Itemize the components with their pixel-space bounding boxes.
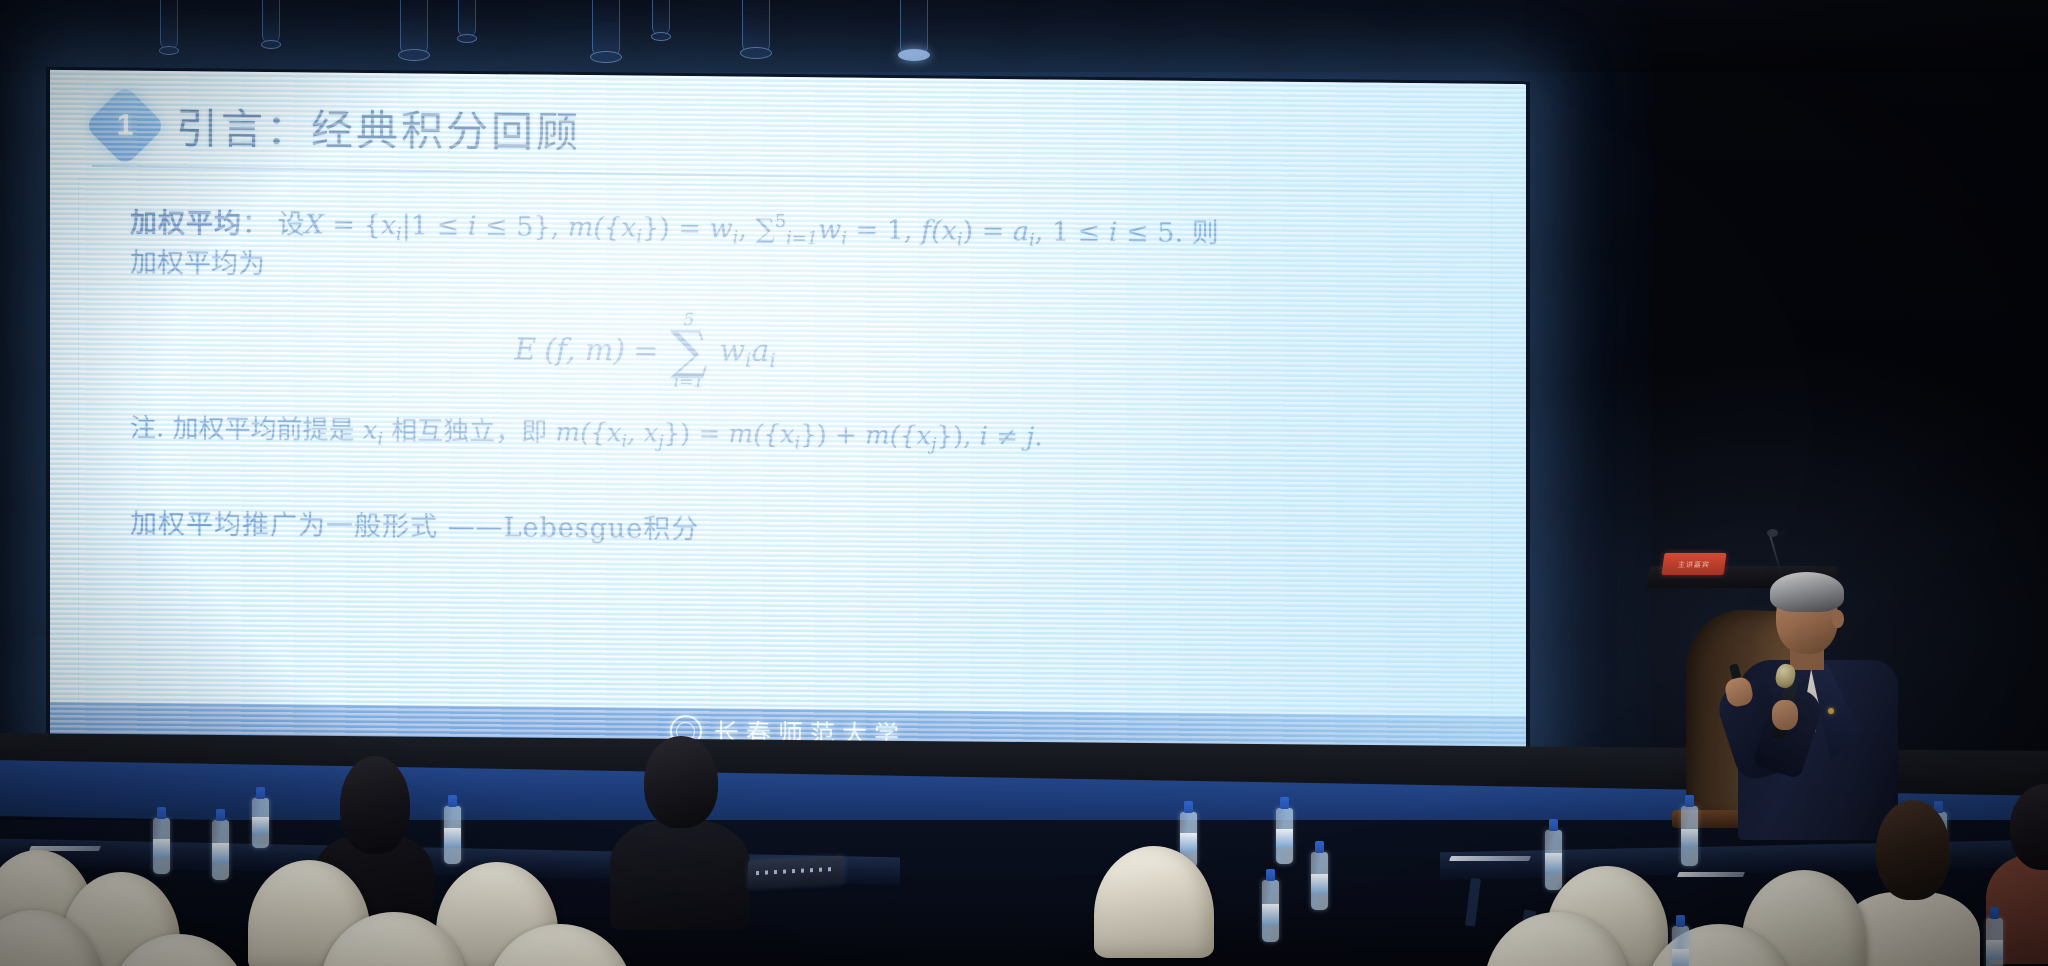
water-bottle <box>252 798 269 848</box>
func-close: ) = <box>963 216 1013 247</box>
eq-sign: = <box>324 210 364 241</box>
lapel-pin-icon <box>1828 708 1834 714</box>
value-a: a <box>1013 216 1029 247</box>
stage-light-icon <box>160 0 178 50</box>
bottle-label <box>1545 853 1562 873</box>
bottle-label <box>212 843 229 863</box>
generalization-text: 加权平均推广为一般形式 —— <box>130 508 504 543</box>
inline-sum-lower: i=1 <box>786 228 818 249</box>
water-bottle <box>1311 852 1328 910</box>
range-low: 1 ≤ <box>411 210 468 242</box>
note-m1-arg: ({x <box>580 418 621 448</box>
handout-paper <box>1677 872 1745 877</box>
audience-member <box>610 736 750 912</box>
water-bottle <box>1262 880 1279 942</box>
bottle-label <box>153 839 170 858</box>
note-m3-close: }), <box>936 421 979 451</box>
slide-title-row: 1 引言：经典积分回顾 <box>96 94 581 160</box>
note-m1: m <box>556 418 581 448</box>
audience-member-head <box>1876 800 1950 900</box>
comma-1: , <box>738 214 755 245</box>
bottle-label <box>1311 874 1328 894</box>
stage-light-icon <box>458 0 476 38</box>
set-close: }, <box>533 212 567 243</box>
summation-operator: 5 ∑ i=1 <box>670 312 707 391</box>
speaker-figure <box>1704 578 1934 838</box>
equation-lhs-args: (f, m) <box>544 333 625 369</box>
trail-index: i <box>1109 217 1118 248</box>
note-cond-i: i <box>980 422 988 452</box>
elem-x: x <box>381 210 396 241</box>
set-bar: | <box>402 210 411 241</box>
handout-paper <box>1449 856 1531 861</box>
presentation-slide: 1 引言：经典积分回顾 加权平均： 设X = {xi|1 ≤ i ≤ 5}, m… <box>50 70 1526 762</box>
summand-a: a <box>751 333 769 368</box>
label-colon: ： <box>242 209 269 240</box>
note-prefix: 注. 加权平均前提是 <box>130 414 363 446</box>
note-m2-close: }) + <box>800 420 865 451</box>
comma-2: , 1 ≤ <box>1035 216 1109 248</box>
note-m2: m <box>729 419 754 449</box>
weight-w: w <box>710 213 733 244</box>
section-number-label: 1 <box>117 110 134 140</box>
stage-light-icon <box>592 0 620 58</box>
water-bottle <box>1672 926 1689 966</box>
water-bottle <box>1545 830 1562 890</box>
equation-equals: = <box>633 334 658 369</box>
water-bottle <box>1681 806 1698 866</box>
bottle-label <box>1986 940 2003 960</box>
trail-high: ≤ 5. <box>1118 217 1192 249</box>
generalization-suffix: 积分 <box>643 513 699 545</box>
sum-equals-one: = 1, <box>847 215 921 247</box>
stage-light-icon <box>262 0 280 44</box>
bottle-label <box>444 828 461 848</box>
water-bottle <box>444 806 461 864</box>
note-cond-end: . <box>1034 422 1042 452</box>
slide-body: 加权平均： 设X = {xi|1 ≤ i ≤ 5}, m({xi}) = wi,… <box>130 203 1430 553</box>
measure-arg: ({x <box>593 212 636 243</box>
speaker-hair <box>1770 572 1844 612</box>
note-m3-arg: ({x <box>890 421 931 451</box>
stage-light-icon <box>400 0 428 56</box>
projection-screen: 1 引言：经典积分回顾 加权平均： 设X = {xi|1 ≤ i ≤ 5}, m… <box>46 67 1530 765</box>
sum-term-w: w <box>818 214 841 245</box>
bottle-label <box>252 817 269 834</box>
equation-lhs-E: E <box>514 333 536 368</box>
range-high: ≤ 5 <box>476 211 533 243</box>
summation-lower-limit: i=1 <box>674 374 705 391</box>
water-bottle <box>1986 918 2003 966</box>
then-word: 则 <box>1192 218 1219 249</box>
av-control-console <box>748 855 844 888</box>
set-open: { <box>364 210 381 241</box>
audience-member-head <box>340 756 410 854</box>
var-X: X <box>305 209 324 240</box>
note-cond-neq: ≠ <box>988 422 1026 452</box>
summand-w: w <box>719 333 745 368</box>
summand-a-subscript: i <box>769 349 775 372</box>
weighted-average-label: 加权平均 <box>130 208 242 240</box>
podium-microphone-head-icon <box>1767 529 1778 537</box>
water-bottle <box>1276 808 1293 864</box>
note-mid: 相互独立，即 <box>383 416 556 448</box>
inline-sum-symbol: ∑ <box>756 214 775 245</box>
section-number-badge: 1 <box>84 84 166 166</box>
stage-light-icon <box>742 0 770 54</box>
slide-title: 引言：经典积分回顾 <box>176 95 581 160</box>
auditorium-photo: 1 引言：经典积分回顾 加权平均： 设X = {xi|1 ≤ i ≤ 5}, m… <box>0 0 2048 966</box>
bottle-label <box>1672 949 1689 966</box>
independence-note-line: 注. 加权平均前提是 xi 相互独立，即 m({xi, xj}) = m({xi… <box>130 408 1430 460</box>
note-m1-comma: , x <box>627 419 658 449</box>
note-m1-close: }) = <box>664 419 729 450</box>
name-placard-label: 主讲嘉宾 <box>1662 560 1725 570</box>
measure-m: m <box>568 212 594 243</box>
stage-light-icon <box>900 0 928 56</box>
stage-light-icon <box>652 0 670 36</box>
water-bottle <box>153 818 170 874</box>
water-bottle <box>212 820 229 880</box>
audience-member-body <box>610 820 750 930</box>
note-var-x: x <box>363 416 378 446</box>
name-placard: 主讲嘉宾 <box>1661 553 1726 575</box>
summand: wiai <box>719 333 775 372</box>
bottle-label <box>1681 829 1698 849</box>
func-f: f <box>921 215 931 246</box>
speaker-ear <box>1832 610 1844 628</box>
lebesgue-keyword: Lebesgue <box>504 512 644 544</box>
summation-sigma-icon: ∑ <box>670 329 707 374</box>
audience-member-head <box>644 736 718 828</box>
note-m2-arg: ({x <box>753 420 794 450</box>
bottle-label <box>1276 829 1293 848</box>
note-m3: m <box>865 421 890 451</box>
display-equation: E(f, m) = 5 ∑ i=1 wiai <box>130 307 1430 398</box>
speaker-right-hand <box>1772 700 1798 730</box>
func-arg: (x <box>931 215 957 246</box>
set-prefix: 设 <box>278 209 305 240</box>
ceiling-band <box>0 0 2048 72</box>
bottle-label <box>1262 904 1279 925</box>
measure-close: }) = <box>642 213 710 245</box>
inline-sum-upper: 5 <box>775 211 786 232</box>
console-buttons-icon <box>756 867 834 875</box>
bottle-label <box>1180 833 1197 852</box>
